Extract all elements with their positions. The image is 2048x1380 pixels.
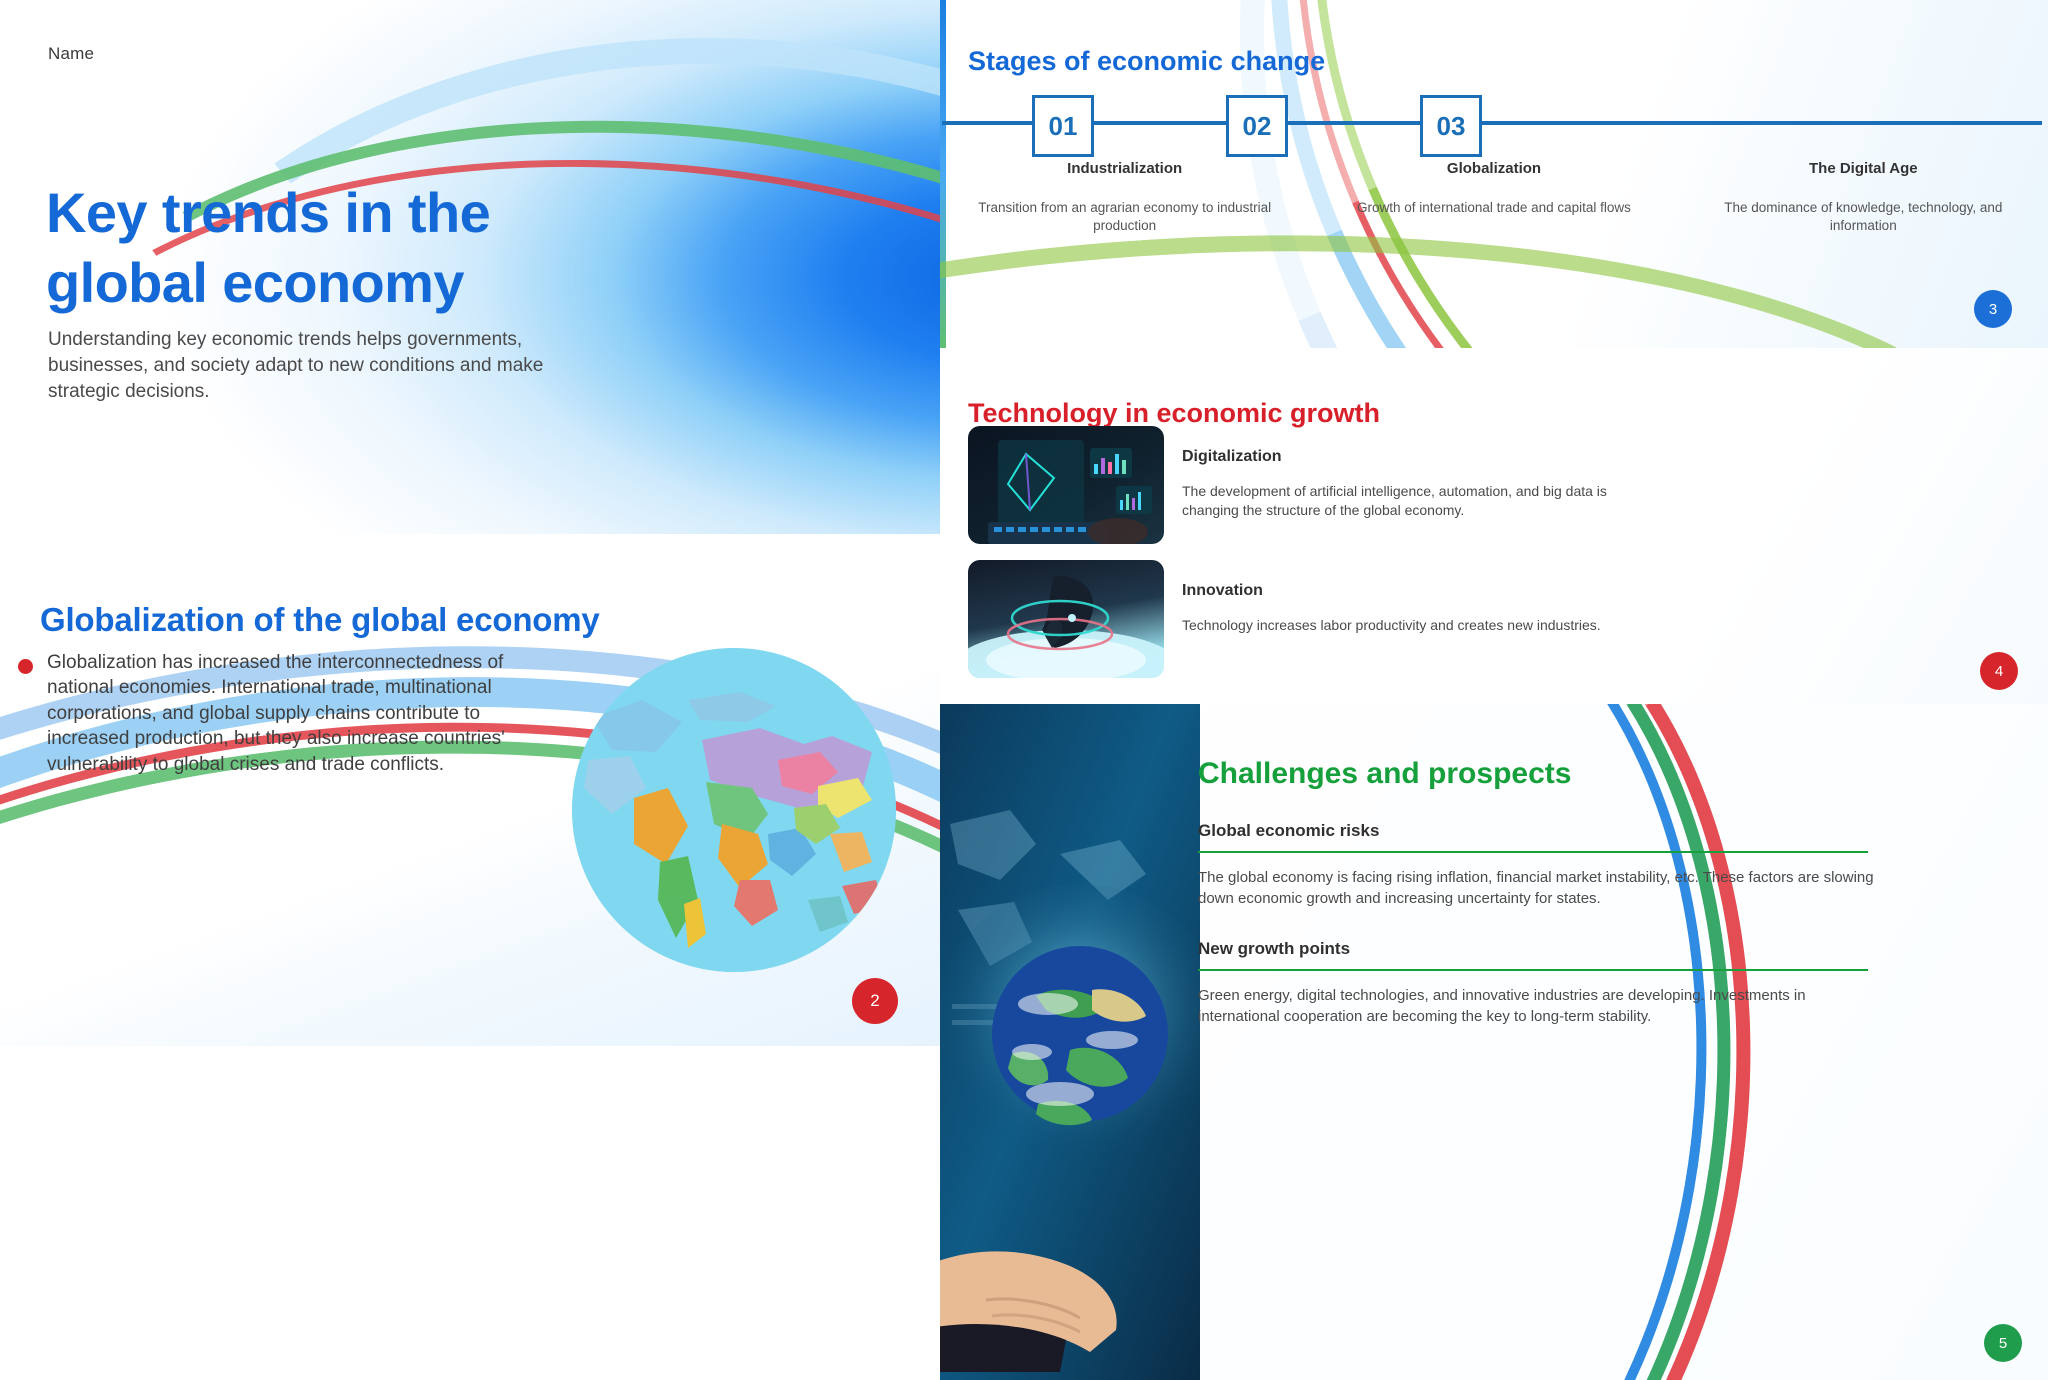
timeline-step-3: The Digital Age The dominance of knowled… (1679, 160, 2048, 235)
step-caption: The Digital Age (1693, 160, 2034, 177)
author-name-label: Name (48, 44, 94, 64)
digital-dashboard-photo (968, 426, 1164, 544)
page-number-badge: 2 (852, 978, 898, 1024)
technology-item-1-text: Digitalization The development of artifi… (1182, 426, 1652, 521)
page-title: Key trends in the global economy (46, 178, 606, 319)
step-description: Growth of international trade and capita… (1323, 199, 1664, 217)
technology-item-2-text: Innovation Technology increases labor pr… (1182, 560, 1652, 635)
title-subtitle: Understanding key economic trends helps … (48, 327, 608, 406)
world-map-globe (572, 648, 896, 972)
technology-title: Technology in economic growth (968, 398, 1380, 429)
globalization-title: Globalization of the global economy (40, 601, 600, 639)
technology-item-body: Technology increases labor productivity … (1182, 616, 1652, 635)
technology-item-body: The development of artificial intelligen… (1182, 482, 1652, 521)
timeline-node-02[interactable]: 02 (1226, 95, 1288, 157)
globalization-bullet-text: Globalization has increased the intercon… (47, 650, 538, 777)
step-caption: Industrialization (954, 160, 1295, 177)
page-number-badge: 3 (1974, 290, 2012, 328)
slide-title[interactable]: Name Key trends in the global economy Un… (0, 0, 940, 534)
stages-title: Stages of economic change (968, 46, 1325, 77)
slide-stages-of-economic-change[interactable]: Stages of economic change 01 02 03 Indus… (940, 0, 2048, 348)
technology-item-2: Innovation Technology increases labor pr… (968, 560, 1652, 678)
step-description: Transition from an agrarian economy to i… (954, 199, 1295, 235)
challenges-block-body: The global economy is facing rising infl… (1198, 867, 1878, 909)
divider (1198, 969, 1868, 971)
timeline-node-01[interactable]: 01 (1032, 95, 1094, 157)
timeline-step-1: Industrialization Transition from an agr… (940, 160, 1309, 235)
slide-globalization[interactable]: Globalization of the global economy Glob… (0, 534, 940, 1046)
slide-challenges-and-prospects[interactable]: Challenges and prospects Global economic… (940, 704, 2048, 1380)
timeline-columns: Industrialization Transition from an agr… (940, 160, 2048, 235)
challenges-block-2: New growth points Green energy, digital … (1198, 939, 1898, 1027)
title-line-1: Key trends in the (46, 181, 490, 244)
page-number-badge: 5 (1984, 1324, 2022, 1362)
step-description: The dominance of knowledge, technology, … (1693, 199, 2034, 235)
list-item: Globalization has increased the intercon… (18, 650, 538, 777)
timeline: 01 02 03 (940, 95, 2048, 155)
timeline-line (942, 121, 2042, 125)
divider (1198, 851, 1868, 853)
slide-technology-in-economic-growth[interactable]: Technology in economic growth (940, 348, 2048, 704)
title-line-2: global economy (46, 251, 464, 314)
technology-item-1: Digitalization The development of artifi… (968, 426, 1652, 544)
challenges-block-heading: New growth points (1198, 939, 1898, 959)
timeline-step-2: Globalization Growth of international tr… (1309, 160, 1678, 235)
timeline-node-03[interactable]: 03 (1420, 95, 1482, 157)
step-caption: Globalization (1323, 160, 1664, 177)
bullet-dot-icon (18, 659, 33, 674)
challenges-block-body: Green energy, digital technologies, and … (1198, 985, 1878, 1027)
page-number-badge: 4 (1980, 652, 2018, 690)
touch-interface-photo (968, 560, 1164, 678)
challenges-block-1: Global economic risks The global economy… (1198, 821, 1898, 909)
technology-item-heading: Innovation (1182, 582, 1652, 600)
challenges-block-heading: Global economic risks (1198, 821, 1898, 841)
slide-deck-canvas: Name Key trends in the global economy Un… (0, 0, 2048, 1380)
challenges-body: Challenges and prospects Global economic… (1198, 732, 1898, 1027)
technology-item-heading: Digitalization (1182, 448, 1652, 466)
challenges-title: Challenges and prospects (1198, 757, 1898, 791)
